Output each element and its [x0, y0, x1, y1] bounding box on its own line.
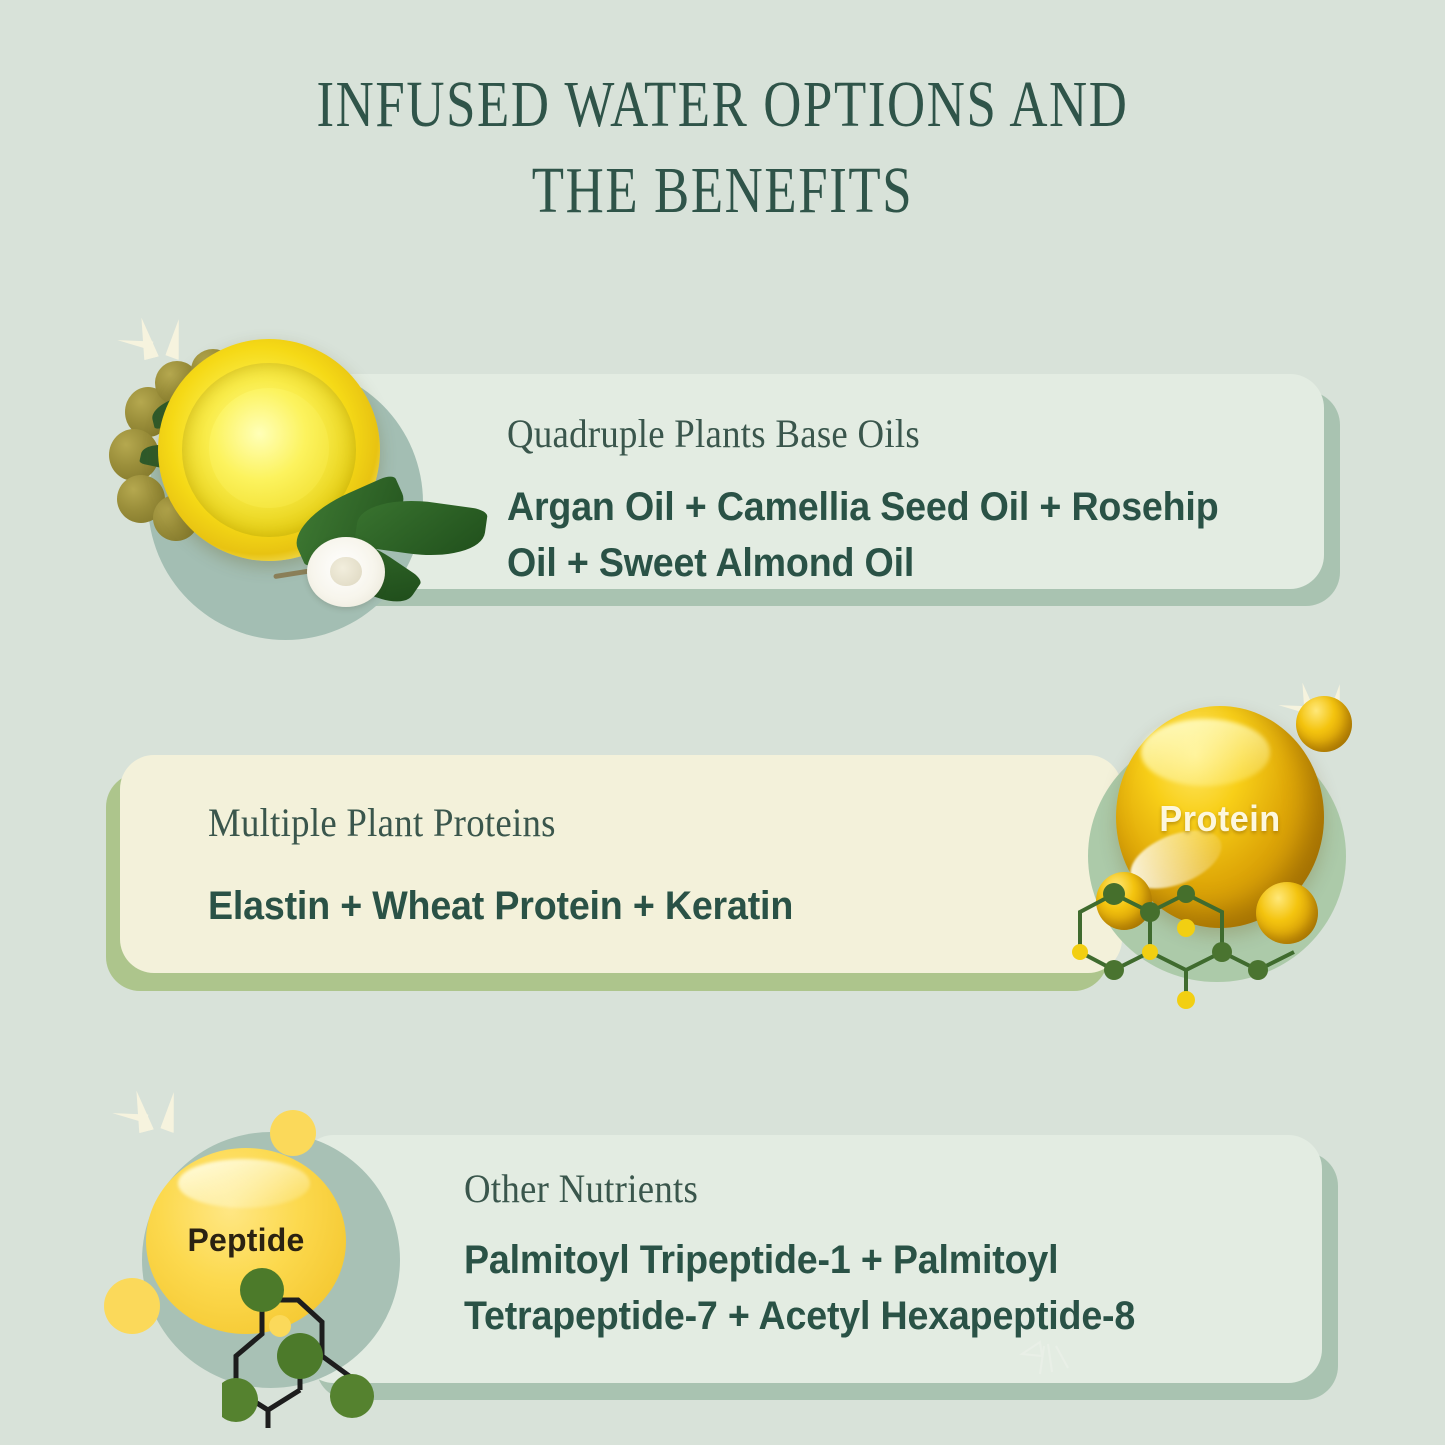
benefit-card-plant-proteins: Multiple Plant Proteins Elastin + Wheat … [120, 755, 1122, 973]
card-content: Other Nutrients Palmitoyl Tripeptide-1 +… [464, 1165, 1304, 1344]
card-eyebrow: Other Nutrients [464, 1165, 1237, 1212]
camellia-flower-icon [307, 537, 385, 607]
card-content: Multiple Plant Proteins Elastin + Wheat … [208, 799, 1058, 934]
protein-label: Protein [1121, 798, 1319, 840]
yellow-dot-icon [104, 1278, 160, 1334]
card-content: Quadruple Plants Base Oils Argan Oil + C… [507, 410, 1307, 591]
card-eyebrow: Multiple Plant Proteins [208, 799, 990, 846]
sparkle-ray [165, 318, 187, 360]
peptide-label: Peptide [146, 1222, 346, 1259]
gold-droplet-icon [1296, 696, 1352, 752]
benefit-card-other-nutrients: Other Nutrients Palmitoyl Tripeptide-1 +… [300, 1135, 1322, 1383]
infographic-canvas: INFUSED WATER OPTIONS AND THE BENEFITS Q… [0, 0, 1445, 1445]
peptide-illustration: Peptide [92, 1082, 442, 1430]
molecule-lattice-icon [222, 1260, 412, 1430]
page-title-line-1: INFUSED WATER OPTIONS AND [316, 68, 1128, 141]
page-title-line-2: THE BENEFITS [532, 154, 913, 227]
sparkle-ray [129, 1089, 154, 1133]
sparkle-ray [134, 316, 159, 360]
card-detail: Elastin + Wheat Protein + Keratin [208, 878, 1007, 934]
protein-droplet-illustration: Protein [1050, 678, 1400, 1023]
yellow-dot-icon [270, 1110, 316, 1156]
page-title: INFUSED WATER OPTIONS AND THE BENEFITS [145, 62, 1301, 234]
sparkle-icon [112, 1086, 202, 1146]
sparkle-ray [160, 1091, 182, 1133]
card-eyebrow: Quadruple Plants Base Oils [507, 410, 1243, 457]
molecule-lattice-icon [1062, 860, 1322, 1010]
sparkle-outline-icon [1012, 1338, 1084, 1382]
oil-bowl-illustration [95, 305, 515, 655]
card-detail: Argan Oil + Camellia Seed Oil + Rosehip … [507, 479, 1259, 591]
card-detail: Palmitoyl Tripeptide-1 + Palmitoyl Tetra… [464, 1232, 1254, 1344]
